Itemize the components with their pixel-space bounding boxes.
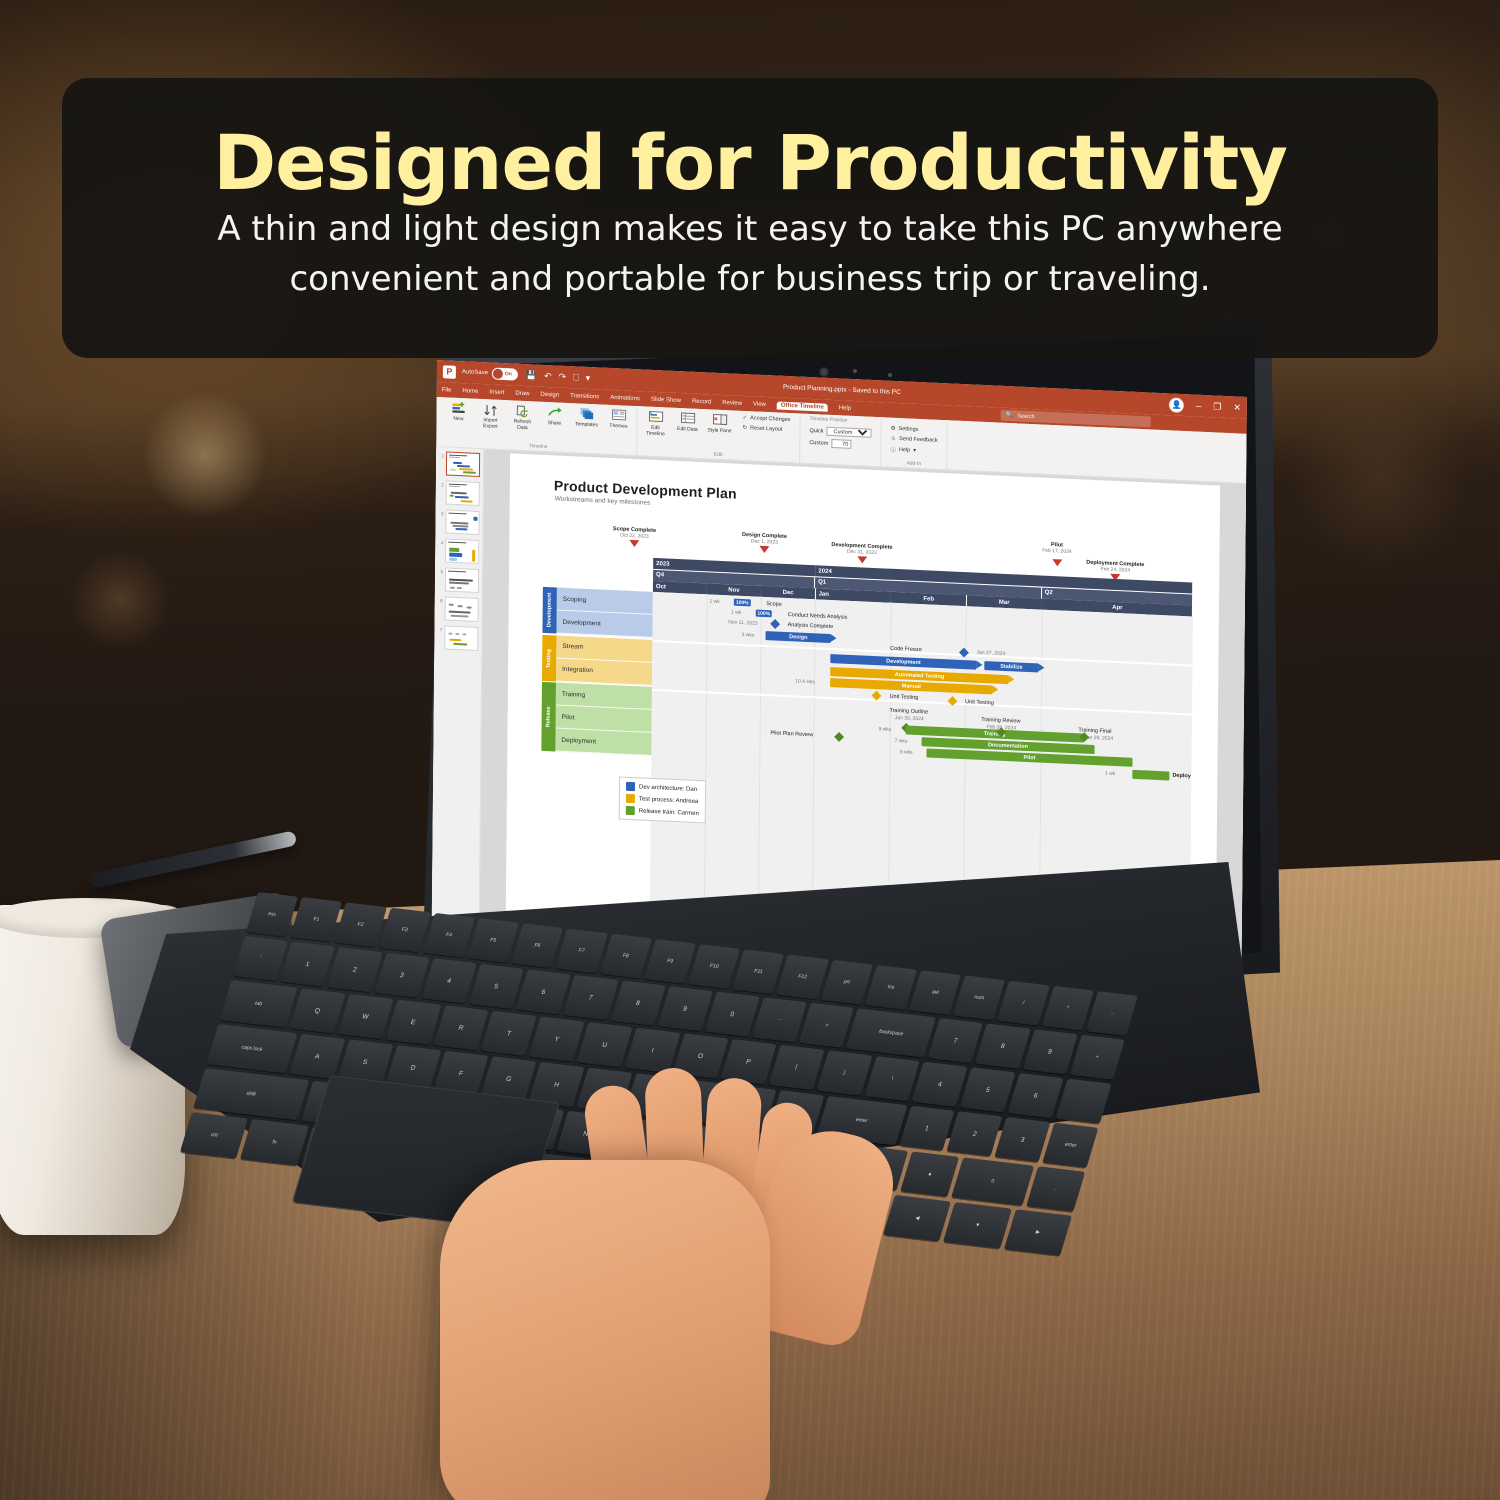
thumbnail-preview	[444, 625, 478, 651]
key-shift-left[interactable]: shift	[193, 1068, 309, 1120]
key-insert[interactable]: ins	[865, 965, 917, 1010]
milestone-marker-icon	[759, 546, 769, 553]
key-numpad-7[interactable]: 7	[928, 1018, 983, 1063]
banner-headline: Designed for Productivity	[213, 123, 1287, 203]
legend-swatch	[626, 806, 635, 815]
task-bar-arrow-tip	[1009, 675, 1015, 683]
milestone-label: Unit Testing	[965, 699, 994, 706]
task-bar-pilot[interactable]: Pilot	[927, 748, 1132, 766]
task-bar-deploy[interactable]	[1132, 770, 1170, 781]
key-q[interactable]: Q	[289, 988, 345, 1033]
task-percent: 100%	[734, 599, 751, 607]
key-numpad-enter[interactable]: enter	[1043, 1123, 1099, 1168]
autosave-label: AutoSave	[462, 369, 488, 376]
templates-button[interactable]: Templates	[573, 405, 599, 429]
tab-animations[interactable]: Animations	[610, 394, 640, 401]
reset-layout-label: Reset Layout	[750, 425, 782, 432]
milestone-diamond-icon[interactable]	[834, 732, 844, 742]
microphone-icon	[853, 369, 857, 373]
tab-file[interactable]: File	[442, 387, 452, 393]
thumbnail-preview	[445, 596, 479, 622]
key-6[interactable]: 6	[516, 969, 571, 1014]
more-icon[interactable]: ▾	[586, 372, 591, 383]
new-timeline-label: New	[453, 417, 463, 423]
milestone-label: Analysis Complete	[788, 622, 834, 630]
legend-label: Release train: Carmen	[639, 808, 699, 817]
tab-insert[interactable]: Insert	[489, 389, 504, 396]
edit-data-icon	[680, 410, 695, 428]
key-arrow-right[interactable]: ▶	[1004, 1209, 1072, 1256]
key-7[interactable]: 7	[563, 975, 618, 1020]
swimlane-name: Development	[542, 587, 556, 634]
help-circle-icon: ⓘ	[890, 446, 896, 454]
chevron-down-icon: ▾	[913, 448, 916, 454]
milestone-marker-icon	[1052, 559, 1062, 566]
task-duration: 3 wks	[742, 632, 755, 639]
slide-thumbnail-7[interactable]: 7	[437, 625, 478, 651]
palm	[440, 1160, 770, 1500]
key-8[interactable]: 8	[610, 981, 665, 1026]
microphone-icon	[888, 373, 892, 377]
reset-icon: ↻	[742, 425, 747, 431]
legend-label: Test process: Andreea	[639, 796, 698, 805]
task-duration: 7 wks	[895, 738, 908, 745]
thumbnail-preview	[445, 509, 479, 535]
powerpoint-logo-icon: P	[443, 365, 456, 379]
task-bar-label: Automated Testing	[895, 671, 944, 679]
key-2[interactable]: 2	[327, 947, 382, 992]
style-pane-icon	[712, 412, 727, 430]
key-numpad-4[interactable]: 4	[912, 1062, 968, 1107]
key-f10[interactable]: F10	[688, 944, 740, 989]
chart-legend: Dev architecture: Dan Test process: Andr…	[619, 776, 706, 823]
autosave-toggle[interactable]: On	[492, 368, 518, 381]
key-4[interactable]: 4	[422, 958, 477, 1003]
slide-thumbnail-5[interactable]: 5	[438, 567, 479, 593]
key-f6[interactable]: F6	[511, 923, 563, 968]
key-numpad-0[interactable]: 0	[951, 1157, 1034, 1205]
thumbnail-number: 7	[437, 625, 442, 632]
key-f4[interactable]: F4	[423, 913, 475, 958]
tab-slide-show[interactable]: Slide Show	[651, 396, 681, 403]
new-timeline-button[interactable]: New	[445, 399, 471, 423]
thumbnail-number: 2	[439, 480, 444, 487]
webcam-icon	[818, 366, 830, 378]
key-numpad-8[interactable]: 8	[975, 1024, 1030, 1069]
task-bar-arrow-tip	[831, 634, 837, 642]
key-3[interactable]: 3	[374, 953, 429, 998]
key-tab[interactable]: tab	[220, 980, 298, 1028]
task-label[interactable]: Conduct Needs Analysis	[788, 612, 848, 621]
refresh-data-icon	[515, 403, 529, 421]
key-a[interactable]: A	[289, 1034, 345, 1079]
task-duration: 1 wk	[1105, 771, 1115, 777]
task-bar-arrow-tip	[1038, 663, 1044, 671]
milestone-scope-complete[interactable]: Scope Complete Oct 22, 2023	[596, 525, 672, 548]
close-button[interactable]: ✕	[1233, 402, 1241, 413]
slide-thumbnail-4[interactable]: 4	[438, 538, 479, 564]
tab-office-timeline[interactable]: Office Timeline	[777, 401, 828, 411]
key-f8[interactable]: F8	[600, 934, 652, 979]
ribbon-group-addin: ⚙ Settings ☺ Send Feedback ⓘ Help ▾ Add-…	[881, 419, 948, 469]
key-w[interactable]: W	[337, 994, 393, 1039]
import-export-icon	[483, 401, 497, 419]
quick-position-select[interactable]: Custom	[826, 427, 871, 438]
slide-thumbnail-1[interactable]: 1	[439, 451, 480, 477]
legend-swatch	[626, 794, 635, 803]
key-prtsc[interactable]: prt	[821, 960, 873, 1005]
thumbnail-preview	[445, 538, 479, 564]
tab-help[interactable]: Help	[839, 405, 851, 412]
thumbnail-number: 3	[439, 509, 444, 516]
legend-item-test: Test process: Andreea	[626, 794, 699, 806]
tab-home[interactable]: Home	[462, 388, 478, 395]
share-label: Share	[548, 421, 561, 427]
share-button[interactable]: Share	[541, 404, 567, 428]
redo-icon[interactable]: ↷	[559, 371, 567, 382]
themes-icon	[611, 407, 626, 425]
swimlane-name: Testing	[542, 634, 556, 681]
key-numpad-period[interactable]: .	[1026, 1166, 1085, 1212]
tab-draw[interactable]: Draw	[515, 390, 529, 397]
task-bar-stabilize[interactable]: Stabilize	[984, 661, 1038, 672]
key-5[interactable]: 5	[469, 964, 524, 1009]
milestone-date: Jan 27, 2024	[976, 650, 1005, 657]
key-numpad-divide[interactable]: /	[997, 981, 1049, 1026]
key-f12[interactable]: F12	[776, 955, 828, 1000]
key-esc[interactable]: esc	[246, 892, 298, 937]
slide-thumbnail-3[interactable]: 3	[438, 509, 479, 535]
templates-label: Templates	[575, 422, 598, 429]
swimlane-row-integration: Integration	[556, 658, 652, 685]
tab-transitions[interactable]: Transitions	[570, 393, 599, 400]
key-numpad-3[interactable]: 3	[995, 1117, 1051, 1162]
task-duration: 8 wks	[900, 749, 913, 756]
key-numpad-5[interactable]: 5	[960, 1067, 1016, 1112]
custom-position-label: Custom	[809, 439, 828, 446]
new-timeline-icon	[451, 400, 466, 418]
ribbon-group-timeline: New Import Export Refresh Data	[440, 399, 637, 455]
import-export-button[interactable]: Import Export	[477, 401, 503, 431]
task-bar-label: Development	[886, 658, 921, 666]
key-fn[interactable]: fn	[240, 1119, 308, 1166]
key-arrow-down[interactable]: ▼	[943, 1202, 1011, 1249]
smiley-icon: ☺	[890, 436, 896, 442]
share-icon	[547, 404, 562, 422]
key-arrow-up[interactable]: ▲	[900, 1151, 959, 1197]
key-f3[interactable]: F3	[379, 908, 431, 953]
tab-view[interactable]: View	[753, 401, 766, 408]
accept-changes-button[interactable]: ✓ Accept Changes	[743, 415, 791, 423]
avatar[interactable]: 👤	[1169, 397, 1184, 413]
key-numpad-9[interactable]: 9	[1022, 1029, 1077, 1074]
accept-changes-label: Accept Changes	[750, 415, 790, 423]
swimlane-row-deployment: Deployment	[555, 729, 651, 756]
send-feedback-label: Send Feedback	[899, 436, 938, 444]
custom-position-input[interactable]: 70	[831, 439, 851, 449]
minimize-button[interactable]: –	[1196, 401, 1201, 411]
check-icon: ✓	[743, 415, 748, 421]
thumbnail-number: 6	[438, 596, 443, 603]
autosave-toggle-knob	[493, 369, 503, 379]
key-f2[interactable]: F2	[334, 902, 386, 947]
edit-timeline-icon	[648, 409, 663, 427]
edit-commands: ✓ Accept Changes ↻ Reset Layout	[738, 413, 794, 436]
key-caps-lock[interactable]: caps lock	[206, 1024, 297, 1073]
tab-design[interactable]: Design	[540, 391, 559, 398]
slide-thumbnail-6[interactable]: 6	[438, 596, 479, 622]
key-f9[interactable]: F9	[644, 939, 696, 984]
ribbon-group-timeline-position: Timeline Position Quick Custom Custom 70	[800, 416, 882, 467]
task-duration: 1 wk	[709, 598, 719, 604]
slide-thumbnail-panel[interactable]: 1 2	[431, 447, 484, 964]
task-bar-label: Design	[789, 634, 807, 641]
legend-swatch	[626, 782, 635, 791]
settings-button[interactable]: ⚙ Settings	[891, 426, 938, 434]
milestone-marker-icon	[629, 540, 639, 547]
task-label[interactable]: Scope	[766, 601, 782, 608]
task-bar-label: Stabilize	[1000, 663, 1022, 670]
task-duration: 10.4 wks	[795, 678, 815, 685]
key-9[interactable]: 9	[657, 986, 712, 1031]
task-bar-design[interactable]: Design	[766, 631, 831, 643]
swimlane-testing: Testing Stream Integration	[542, 634, 652, 685]
templates-icon	[579, 405, 594, 423]
thumbnail-number: 4	[438, 538, 443, 545]
task-bar-arrow-tip	[976, 661, 982, 669]
task-label: Deploy	[1172, 773, 1190, 780]
key-numpad-1[interactable]: 1	[899, 1106, 955, 1151]
legend-label: Dev architecture: Dan	[639, 784, 697, 793]
milestone-diamond-icon[interactable]	[959, 648, 969, 658]
key-f5[interactable]: F5	[467, 918, 519, 963]
task-bar-arrow-tip	[992, 685, 998, 693]
key-ctrl-left[interactable]: ctrl	[180, 1112, 248, 1159]
save-icon[interactable]: 💾	[526, 370, 537, 382]
style-pane-label: Style Pane	[707, 428, 731, 435]
window-controls: 👤 – ❐ ✕	[1169, 397, 1241, 415]
edit-timeline-label: Edit Timeline	[642, 425, 668, 438]
key-numpad-multiply[interactable]: *	[1042, 986, 1094, 1031]
quick-position-label: Quick	[809, 427, 823, 434]
themes-button[interactable]: Themes	[605, 407, 631, 431]
key-numlock[interactable]: num	[953, 975, 1005, 1020]
milestone-label: Pilot Plan Review	[770, 730, 813, 738]
milestone-development-complete[interactable]: Development Complete Dec 31, 2023	[824, 542, 900, 565]
swimlane-development: Development Scoping Development	[542, 587, 652, 638]
style-pane-button[interactable]: Style Pane	[706, 411, 732, 435]
slide-thumbnail-2[interactable]: 2	[439, 480, 480, 506]
task-duration: 1 wk	[731, 609, 741, 615]
search-icon: 🔍	[1006, 412, 1014, 419]
task-bar-label: Documentation	[988, 742, 1028, 750]
milestone-design-complete[interactable]: Design Complete Dec 1, 2023	[726, 531, 802, 554]
key-1[interactable]: 1	[280, 942, 335, 987]
present-icon[interactable]: ⎕	[573, 372, 579, 383]
key-numpad-2[interactable]: 2	[947, 1111, 1003, 1156]
key-delete[interactable]: del	[909, 970, 961, 1015]
refresh-data-label: Refresh Data	[509, 419, 535, 432]
milestone-marker-icon	[857, 556, 867, 563]
autosave-state: On	[505, 371, 512, 377]
gear-icon: ⚙	[891, 426, 896, 432]
task-duration: 9 wks	[878, 726, 891, 733]
edit-timeline-button[interactable]: Edit Timeline	[642, 408, 668, 438]
send-feedback-button[interactable]: ☺ Send Feedback	[890, 436, 937, 444]
milestone-diamond-icon[interactable]	[770, 619, 780, 629]
key-f1[interactable]: F1	[290, 897, 342, 942]
milestone-diamond-icon[interactable]	[948, 696, 958, 706]
swimlane-labels: Development Scoping Development Testing …	[541, 587, 653, 758]
banner-subline-2: convenient and portable for business tri…	[289, 257, 1210, 303]
edit-data-button[interactable]: Edit Data	[674, 410, 700, 434]
marketing-banner: Designed for Productivity A thin and lig…	[62, 78, 1438, 358]
top-milestones: Scope Complete Oct 22, 2023 Design Compl…	[543, 523, 1193, 553]
thumbnail-preview	[445, 567, 479, 593]
help-button[interactable]: ⓘ Help ▾	[890, 446, 937, 456]
milestone-date: Jan 30, 2024	[895, 715, 924, 722]
key-numpad-6[interactable]: 6	[1008, 1073, 1064, 1118]
task-bar-label: Manual	[902, 683, 921, 690]
tab-record[interactable]: Record	[692, 398, 711, 405]
undo-icon[interactable]: ↶	[544, 370, 552, 381]
thumbnail-number: 5	[438, 567, 443, 574]
tab-review[interactable]: Review	[722, 399, 742, 406]
reset-layout-button[interactable]: ↻ Reset Layout	[742, 425, 790, 433]
banner-subline-1: A thin and light design makes it easy to…	[217, 207, 1282, 253]
restore-button[interactable]: ❐	[1213, 401, 1221, 412]
key-f7[interactable]: F7	[555, 929, 607, 974]
key-numpad-blank[interactable]	[1056, 1079, 1112, 1124]
help-label: Help	[899, 447, 910, 454]
swimlane-name: Release	[541, 682, 556, 752]
ribbon-group-edit: Edit Timeline Edit Data Style Pane	[637, 408, 800, 462]
swimlane-row-development: Development	[556, 611, 652, 638]
milestone-date: Nov 11, 2023	[728, 619, 757, 626]
themes-label: Themes	[609, 424, 627, 431]
task-percent: 100%	[755, 610, 772, 618]
thumbnail-number: 1	[439, 451, 444, 458]
search-placeholder: Search	[1017, 413, 1034, 420]
settings-label: Settings	[898, 426, 918, 433]
edit-data-label: Edit Data	[677, 427, 698, 434]
task-bar-label: Pilot	[1023, 754, 1035, 761]
legend-item-release: Release train: Carmen	[626, 806, 699, 818]
swimlane-release: Release Training Pilot Deployment	[541, 682, 652, 756]
thumbnail-preview	[446, 480, 480, 506]
milestone-label: Unit Testing	[890, 694, 919, 701]
legend-item-dev: Dev architecture: Dan	[626, 782, 699, 794]
thumbnail-preview	[446, 451, 480, 477]
key-f11[interactable]: F11	[732, 949, 784, 994]
import-export-label: Import Export	[477, 418, 503, 431]
refresh-data-button[interactable]: Refresh Data	[509, 402, 535, 432]
